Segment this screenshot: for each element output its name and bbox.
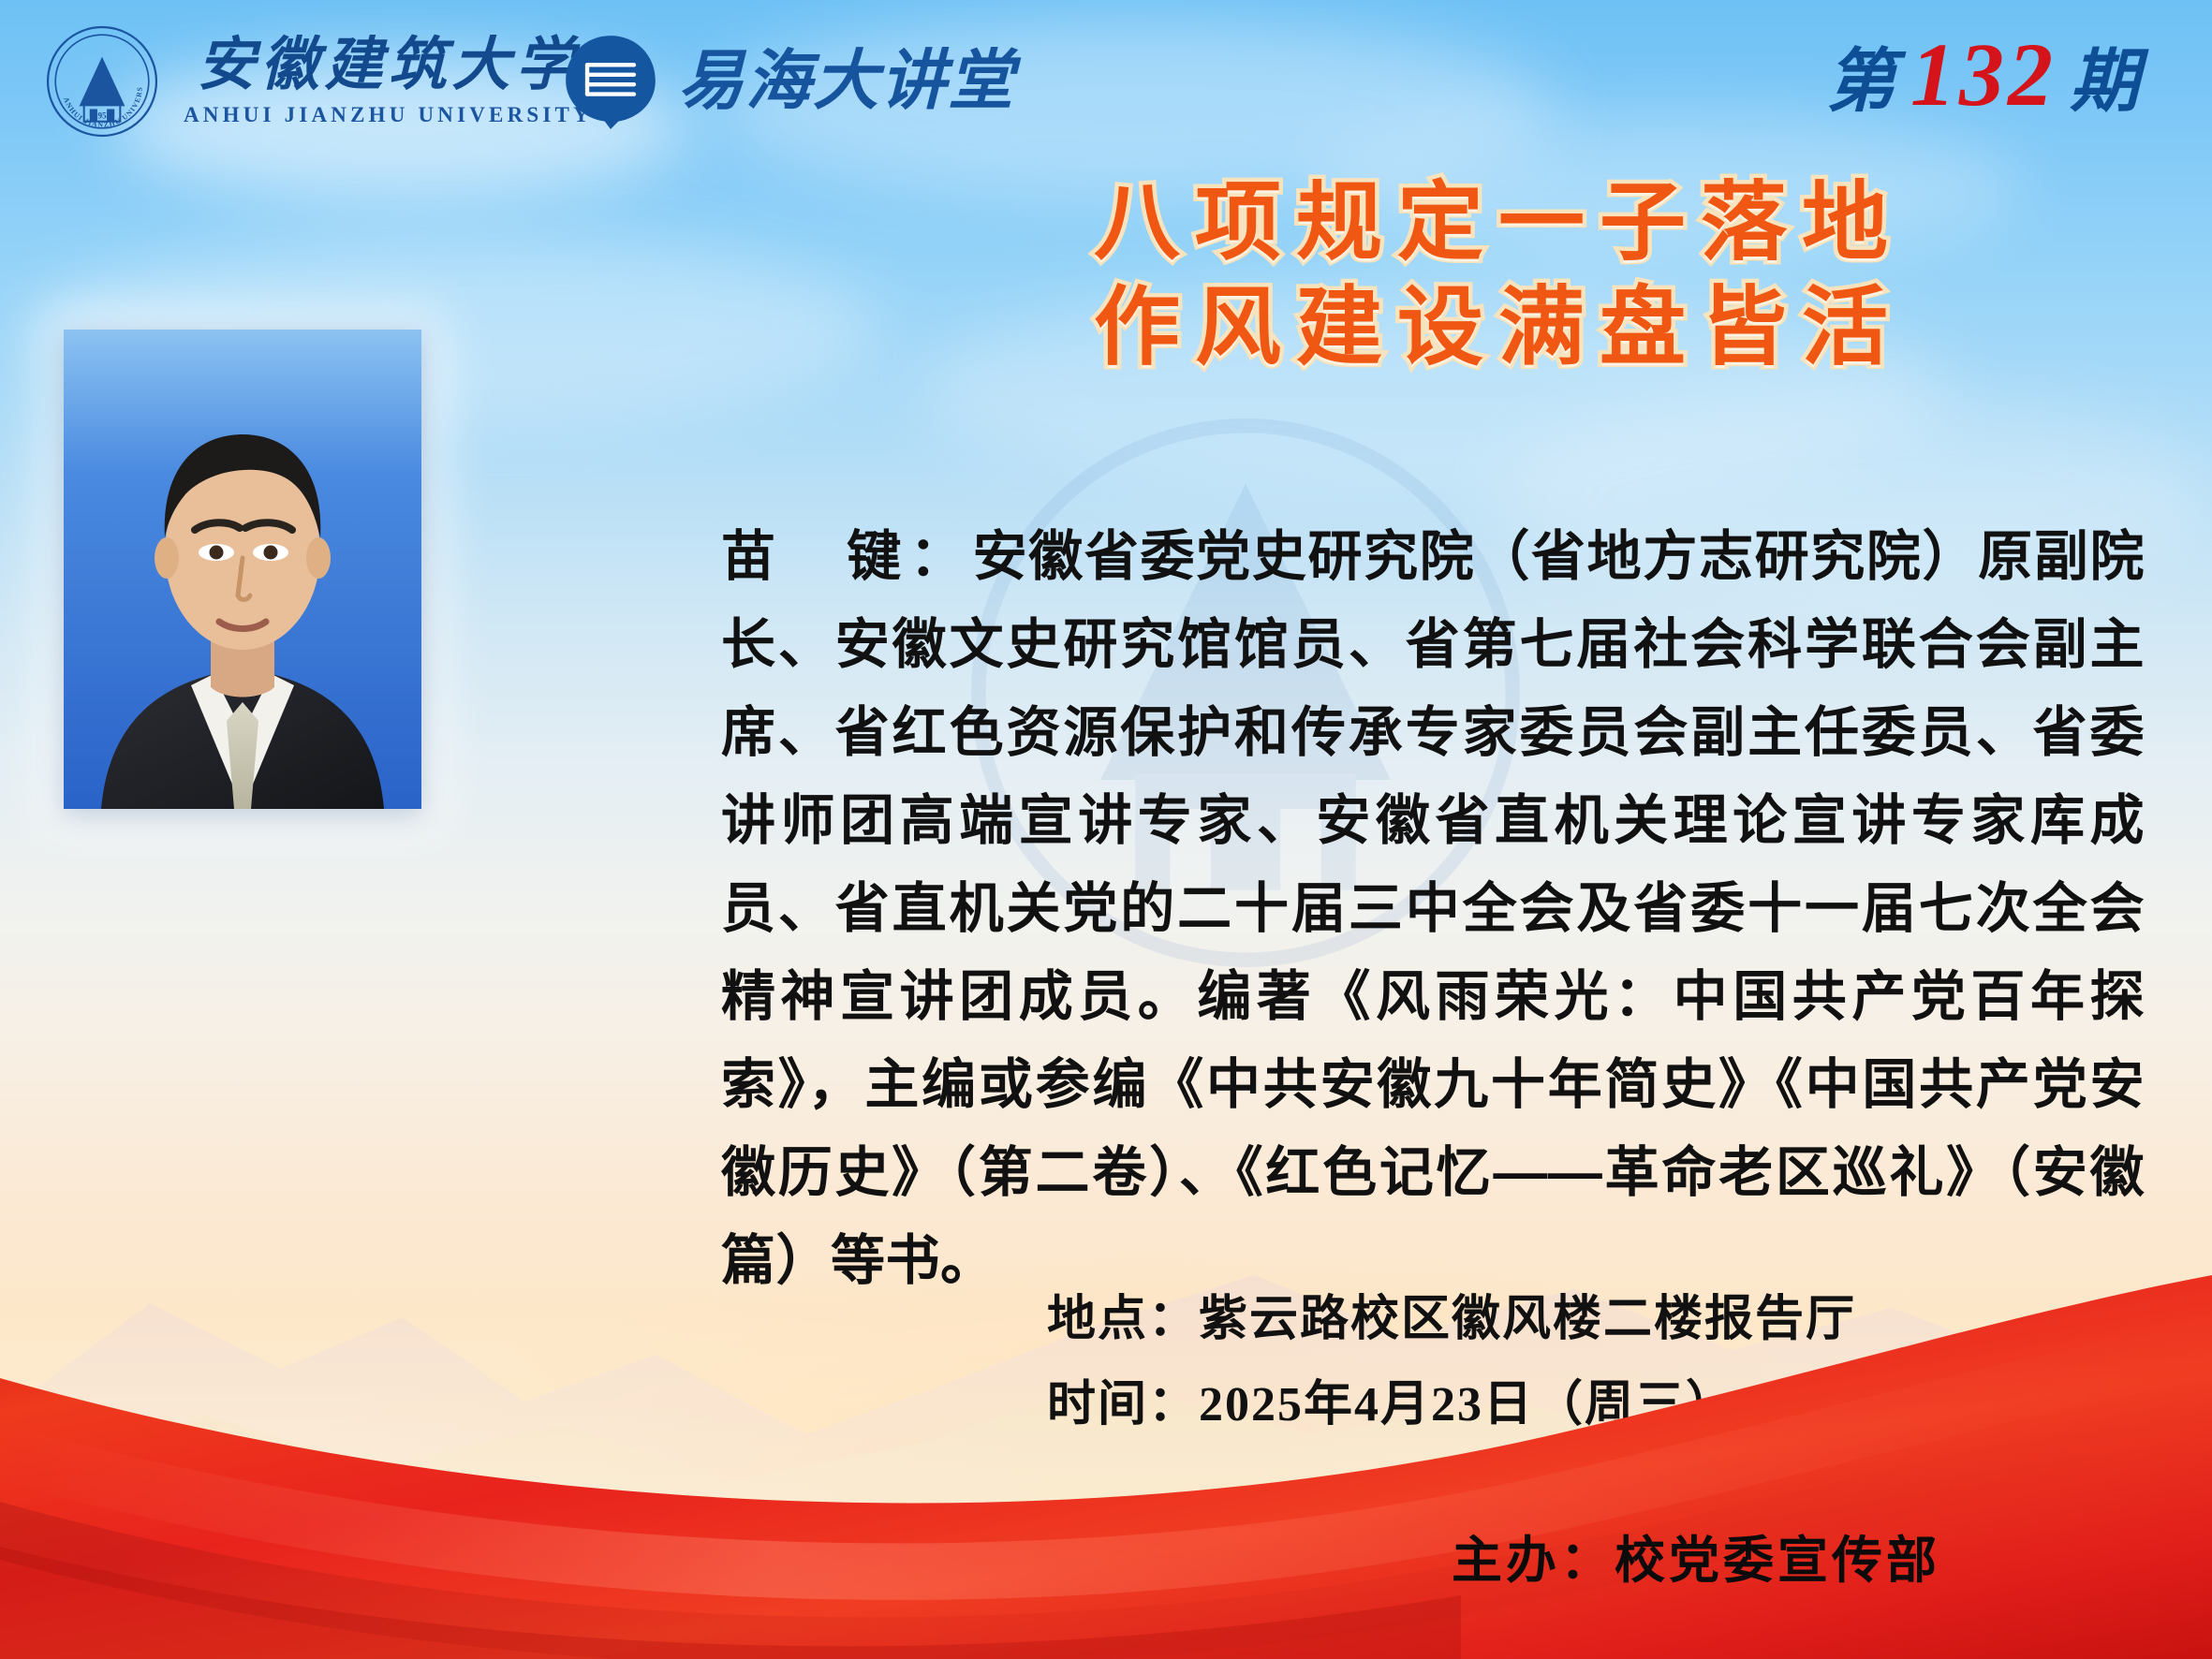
poster-title: 八项规定一子落地 作风建设满盘皆活 xyxy=(843,170,2154,380)
title-line-1: 八项规定一子落地 xyxy=(843,170,2154,275)
speaker-name: 苗 键： xyxy=(721,526,973,587)
title-line-2: 作风建设满盘皆活 xyxy=(843,275,2154,380)
host-department: 主办：校党委宣传部 xyxy=(1452,1519,1940,1593)
university-brand: 1958 ANHUI JIANZHU UNIVERSITY 安徽建筑大学 ANH… xyxy=(45,24,593,139)
lecture-series-title: 易海大讲堂 xyxy=(678,48,1015,113)
lecture-series-brand: 易海大讲堂 xyxy=(562,32,1015,129)
speaker-portrait xyxy=(64,330,421,809)
university-seal-icon: 1958 ANHUI JIANZHU UNIVERSITY xyxy=(45,24,159,139)
event-time: 时间：2025年4月23日（周三）15:30 xyxy=(1047,1368,1859,1444)
university-name-block: 安徽建筑大学 ANHUI JIANZHU UNIVERSITY xyxy=(184,36,593,126)
speaker-portrait-frame xyxy=(64,330,421,809)
issue-number: 132 xyxy=(1910,30,2057,120)
seal-year-text: 1958 xyxy=(94,111,111,121)
poster-header: 1958 ANHUI JIANZHU UNIVERSITY 安徽建筑大学 ANH… xyxy=(0,0,2212,164)
portrait-illustration xyxy=(64,330,421,809)
event-location: 地点：紫云路校区徽风楼二楼报告厅 xyxy=(1047,1283,1859,1358)
issue-badge: 第 132 期 xyxy=(1826,30,2141,120)
university-name-en: ANHUI JIANZHU UNIVERSITY xyxy=(184,103,593,127)
university-name-cn: 安徽建筑大学 xyxy=(197,36,579,96)
event-meta: 地点：紫云路校区徽风楼二楼报告厅 时间：2025年4月23日（周三）15:30 xyxy=(1047,1283,1859,1452)
speaker-bio-text: 安徽省委党史研究院（省地方志研究院）原副院长、安徽文史研究馆馆员、省第七届社会科… xyxy=(721,526,2145,1291)
issue-prefix-label: 第 xyxy=(1826,47,1897,116)
poster-canvas: 1958 ANHUI JIANZHU UNIVERSITY 安徽建筑大学 ANH… xyxy=(0,0,2212,1659)
issue-suffix-label: 期 xyxy=(2070,47,2141,116)
speaker-bio: 苗 键：安徽省委党史研究院（省地方志研究院）原副院长、安徽文史研究馆馆员、省第七… xyxy=(721,513,2145,1305)
book-speech-bubble-icon xyxy=(562,32,659,129)
